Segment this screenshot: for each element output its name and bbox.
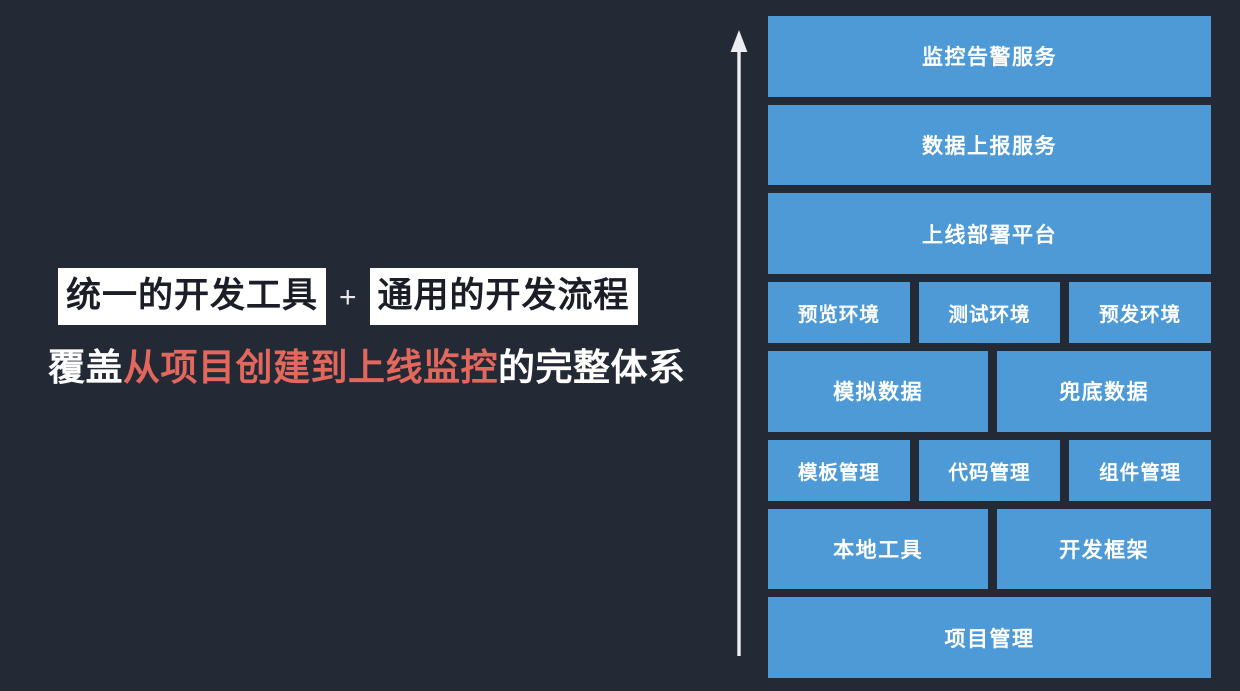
stack-row: 数据上报服务 [768,105,1211,186]
subtitle-prefix: 覆盖 [48,347,123,388]
stack-cell[interactable]: 预览环境 [768,282,910,343]
stack-cell[interactable]: 兜底数据 [997,351,1211,432]
stack-row: 项目管理 [768,597,1211,678]
stack-cell[interactable]: 模拟数据 [768,351,988,432]
stack-cell[interactable]: 组件管理 [1069,440,1211,501]
headline: 统一的开发工具 + 通用的开发流程 [58,268,638,325]
subtitle-accent: 从项目创建到上线监控 [123,347,498,388]
stack-row: 模拟数据兜底数据 [768,351,1211,432]
stack-cell[interactable]: 项目管理 [768,597,1211,678]
stack-cell[interactable]: 开发框架 [997,509,1211,590]
stack-cell[interactable]: 代码管理 [919,440,1061,501]
stack-cell[interactable]: 模板管理 [768,440,910,501]
stack-cell[interactable]: 测试环境 [919,282,1061,343]
headline-box-process: 通用的开发流程 [370,268,638,325]
plus-icon: + [326,283,370,313]
subtitle-suffix: 的完整体系 [498,347,686,388]
stack-cell[interactable]: 预发环境 [1069,282,1211,343]
arrow-up-icon [724,28,754,656]
left-content-panel: 统一的开发工具 + 通用的开发流程 覆盖从项目创建到上线监控的完整体系 [0,0,710,691]
capability-stack: 监控告警服务数据上报服务上线部署平台预览环境测试环境预发环境模拟数据兜底数据模板… [768,16,1211,678]
stack-row: 模板管理代码管理组件管理 [768,440,1211,501]
stack-row: 本地工具开发框架 [768,509,1211,590]
subtitle: 覆盖从项目创建到上线监控的完整体系 [48,345,686,391]
stack-cell[interactable]: 数据上报服务 [768,105,1211,186]
stack-row: 预览环境测试环境预发环境 [768,282,1211,343]
stack-cell[interactable]: 本地工具 [768,509,988,590]
stack-row: 监控告警服务 [768,16,1211,97]
stack-row: 上线部署平台 [768,193,1211,274]
stack-cell[interactable]: 上线部署平台 [768,193,1211,274]
headline-box-tools: 统一的开发工具 [58,268,326,325]
stack-cell[interactable]: 监控告警服务 [768,16,1211,97]
